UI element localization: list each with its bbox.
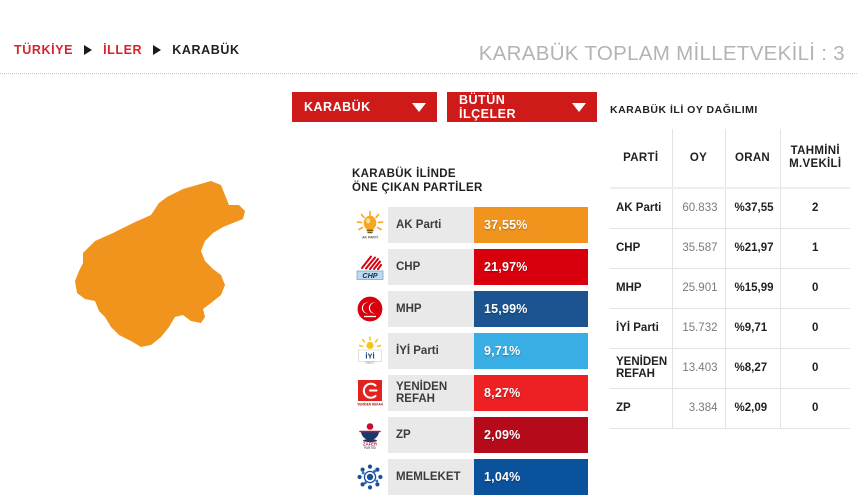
province-map[interactable] (55, 175, 270, 375)
table-row: YENİDEN REFAH 13.403 %8,27 0 (610, 348, 850, 388)
table-row: MHP 25.901 %15,99 0 (610, 268, 850, 308)
party-name: CHP (388, 249, 474, 285)
party-percent-bar: 15,99% (474, 291, 588, 327)
party-name: AK Parti (388, 207, 474, 243)
column-header-votes: OY (672, 129, 725, 188)
cell-party: ZP (610, 388, 672, 428)
district-dropdown-value: BÜTÜN İLÇELER (459, 93, 562, 121)
province-dropdown-value: KARABÜK (304, 100, 371, 114)
chevron-down-icon (572, 103, 586, 112)
table-row: İYİ Parti 15.732 %9,71 0 (610, 308, 850, 348)
svg-text:AK PARTİ: AK PARTİ (362, 235, 378, 239)
cell-seats: 1 (780, 228, 850, 268)
karabuk-map-shape (75, 181, 245, 347)
party-name: MHP (388, 291, 474, 327)
memleket-partisi-logo (352, 459, 388, 495)
party-percent-bar: 37,55% (474, 207, 588, 243)
svg-text:PARTİ: PARTİ (365, 360, 374, 365)
party-percent: 1,04% (484, 470, 520, 484)
district-dropdown[interactable]: BÜTÜN İLÇELER (447, 92, 597, 122)
column-header-rate: ORAN (725, 129, 780, 188)
breadcrumb-item-turkiye[interactable]: TÜRKİYE (14, 43, 73, 57)
party-row[interactable]: MHP 15,99% (352, 291, 588, 327)
featured-parties-panel: KARABÜK İLİNDE ÖNE ÇIKAN PARTİLER AK PAR… (352, 168, 588, 501)
yeniden-refah-logo: YENİDEN REFAH (352, 375, 388, 411)
column-header-seats: TAHMİNİ M.VEKİLİ (780, 129, 850, 188)
table-row: AK Parti 60.833 %37,55 2 (610, 188, 850, 228)
ak-parti-logo: AK PARTİ (352, 207, 388, 243)
cell-seats: 0 (780, 348, 850, 388)
province-dropdown[interactable]: KARABÜK (292, 92, 437, 122)
table-row: CHP 35.587 %21,97 1 (610, 228, 850, 268)
party-percent: 2,09% (484, 428, 520, 442)
header-divider (0, 73, 857, 75)
page-title: KARABÜK TOPLAM MİLLETVEKİLİ : 3 (479, 42, 845, 66)
party-name: İYİ Parti (388, 333, 474, 369)
cell-rate: %9,71 (725, 308, 780, 348)
cell-rate: %15,99 (725, 268, 780, 308)
featured-parties-title: KARABÜK İLİNDE ÖNE ÇIKAN PARTİLER (352, 168, 588, 195)
cell-votes: 15.732 (672, 308, 725, 348)
cell-votes: 35.587 (672, 228, 725, 268)
party-name: YENİDEN REFAH (388, 375, 474, 411)
cell-party: MHP (610, 268, 672, 308)
party-row[interactable]: ZAFER PARTİSİ ZP 2,09% (352, 417, 588, 453)
cell-party: CHP (610, 228, 672, 268)
party-percent-bar: 9,71% (474, 333, 588, 369)
cell-rate: %37,55 (725, 188, 780, 228)
party-percent: 15,99% (484, 302, 528, 316)
party-percent: 37,55% (484, 218, 528, 232)
cell-rate: %21,97 (725, 228, 780, 268)
cell-votes: 3.384 (672, 388, 725, 428)
svg-text:YENİDEN REFAH: YENİDEN REFAH (357, 403, 384, 407)
cell-votes: 60.833 (672, 188, 725, 228)
vote-distribution-panel: KARABÜK İLİ OY DAĞILIMI PARTİ OY ORAN TA… (610, 104, 850, 429)
party-name: ZP (388, 417, 474, 453)
breadcrumb-item-karabuk: KARABÜK (172, 43, 239, 57)
svg-text:İYİ: İYİ (365, 352, 374, 361)
cell-party: İYİ Parti (610, 308, 672, 348)
chevron-down-icon (412, 103, 426, 112)
chp-logo: CHP (352, 249, 388, 285)
party-row[interactable]: İYİ PARTİ İYİ Parti 9,71% (352, 333, 588, 369)
filter-bar: KARABÜK BÜTÜN İLÇELER (292, 92, 597, 122)
cell-rate: %8,27 (725, 348, 780, 388)
table-header-row: PARTİ OY ORAN TAHMİNİ M.VEKİLİ (610, 129, 850, 188)
party-row[interactable]: AK PARTİ AK Parti 37,55% (352, 207, 588, 243)
cell-votes: 25.901 (672, 268, 725, 308)
vote-distribution-title: KARABÜK İLİ OY DAĞILIMI (610, 104, 850, 116)
chevron-right-icon (153, 45, 161, 55)
table-row: ZP 3.384 %2,09 0 (610, 388, 850, 428)
party-percent: 8,27% (484, 386, 520, 400)
party-row[interactable]: YENİDEN REFAH YENİDEN REFAH 8,27% (352, 375, 588, 411)
vote-distribution-table: PARTİ OY ORAN TAHMİNİ M.VEKİLİ AK Parti … (610, 129, 850, 429)
party-percent: 21,97% (484, 260, 528, 274)
party-percent-bar: 2,09% (474, 417, 588, 453)
party-percent-bar: 8,27% (474, 375, 588, 411)
cell-party: AK Parti (610, 188, 672, 228)
cell-seats: 0 (780, 308, 850, 348)
cell-votes: 13.403 (672, 348, 725, 388)
svg-text:PARTİSİ: PARTİSİ (364, 445, 376, 450)
mhp-logo (352, 291, 388, 327)
cell-seats: 2 (780, 188, 850, 228)
cell-party: YENİDEN REFAH (610, 348, 672, 388)
party-percent-bar: 1,04% (474, 459, 588, 495)
column-header-party: PARTİ (610, 129, 672, 188)
party-row[interactable]: CHP CHP 21,97% (352, 249, 588, 285)
cell-seats: 0 (780, 268, 850, 308)
party-name: MEMLEKET (388, 459, 474, 495)
cell-seats: 0 (780, 388, 850, 428)
zafer-partisi-logo: ZAFER PARTİSİ (352, 417, 388, 453)
cell-rate: %2,09 (725, 388, 780, 428)
breadcrumb: TÜRKİYE İLLER KARABÜK (14, 43, 240, 57)
party-row[interactable]: MEMLEKET 1,04% (352, 459, 588, 495)
party-percent: 9,71% (484, 344, 520, 358)
iyi-parti-logo: İYİ PARTİ (352, 333, 388, 369)
chevron-right-icon (84, 45, 92, 55)
breadcrumb-item-iller[interactable]: İLLER (103, 43, 142, 57)
svg-text:CHP: CHP (362, 271, 377, 280)
party-percent-bar: 21,97% (474, 249, 588, 285)
